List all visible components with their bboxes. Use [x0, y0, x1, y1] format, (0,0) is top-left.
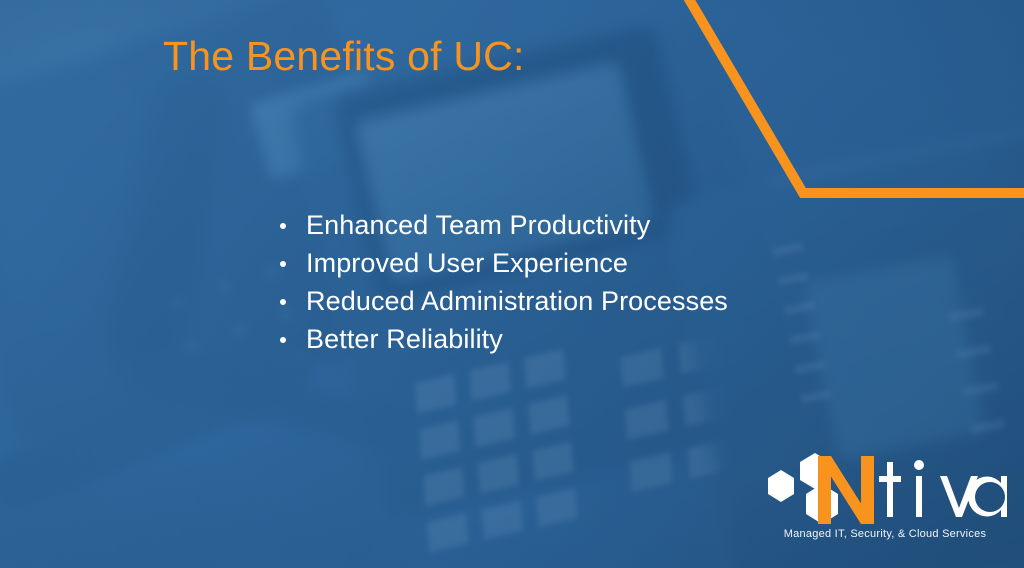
list-item: Better Reliability	[276, 320, 728, 358]
bullet-label: Better Reliability	[306, 324, 503, 354]
ntiva-logo-mark	[760, 440, 1018, 532]
logo-tagline: Managed IT, Security, & Cloud Services	[760, 528, 1010, 540]
bullet-label: Enhanced Team Productivity	[306, 210, 650, 240]
presentation-slide: The Benefits of UC: Enhanced Team Produc…	[0, 0, 1024, 568]
ntiva-logo: Managed IT, Security, & Cloud Services	[760, 440, 1018, 550]
list-item: Improved User Experience	[276, 244, 728, 282]
bullet-label: Improved User Experience	[306, 248, 628, 278]
list-item: Reduced Administration Processes	[276, 282, 728, 320]
slide-title: The Benefits of UC:	[163, 33, 525, 80]
wordmark-tiva	[879, 460, 1007, 517]
list-item: Enhanced Team Productivity	[276, 206, 728, 244]
benefits-bullet-list: Enhanced Team Productivity Improved User…	[276, 206, 728, 358]
letter-n-glyph	[818, 456, 874, 524]
hexagon-icon-left	[768, 470, 794, 502]
bullet-label: Reduced Administration Processes	[306, 286, 728, 316]
